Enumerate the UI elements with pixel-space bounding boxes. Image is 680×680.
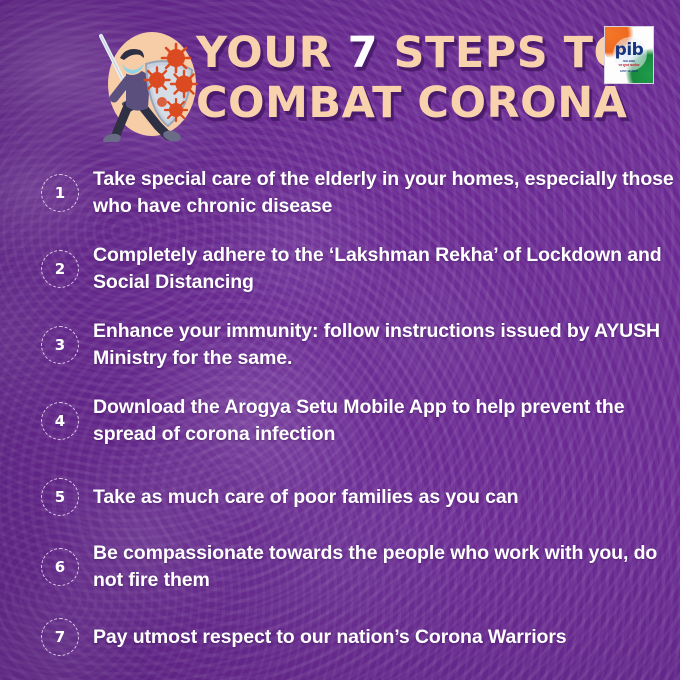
header: YOUR 7 STEPS TO COMBAT CORONA pib भारत स… <box>0 0 680 152</box>
step-number-badge: 7 <box>41 618 79 656</box>
pib-subtitle-3: GOVT. OF INDIA <box>605 70 653 73</box>
title-line-2: COMBAT CORONA <box>196 78 586 128</box>
step-item-5: 5Take as much care of poor families as y… <box>0 477 680 517</box>
step-item-3: 3Enhance your immunity: follow instructi… <box>0 312 680 378</box>
pib-subtitle-2: पत्र सूचना कार्यालय <box>605 64 653 67</box>
pib-wordmark: pib <box>605 42 653 59</box>
step-text: Pay utmost respect to our nation’s Coron… <box>93 624 567 651</box>
step-number-badge: 5 <box>41 478 79 516</box>
step-number-badge: 4 <box>41 402 79 440</box>
step-text: Completely adhere to the ‘Lakshman Rekha… <box>93 242 680 296</box>
pib-logo: pib भारत सरकार पत्र सूचना कार्यालय GOVT.… <box>604 26 654 84</box>
step-item-7: 7Pay utmost respect to our nation’s Coro… <box>0 617 680 657</box>
title-block: YOUR 7 STEPS TO COMBAT CORONA <box>196 28 586 128</box>
title-prefix: YOUR <box>196 28 348 78</box>
step-item-6: 6Be compassionate towards the people who… <box>0 534 680 600</box>
warrior-illustration <box>84 22 206 142</box>
step-item-2: 2Completely adhere to the ‘Lakshman Rekh… <box>0 236 680 302</box>
step-text: Take special care of the elderly in your… <box>93 166 680 220</box>
title-line-1: YOUR 7 STEPS TO <box>196 28 586 78</box>
title-suffix: STEPS TO <box>378 28 631 78</box>
poster-root: YOUR 7 STEPS TO COMBAT CORONA pib भारत स… <box>0 0 680 680</box>
step-number-badge: 1 <box>41 174 79 212</box>
title-step-count: 7 <box>348 28 378 78</box>
step-number-badge: 3 <box>41 326 79 364</box>
step-item-1: 1Take special care of the elderly in you… <box>0 160 680 226</box>
step-item-4: 4Download the Arogya Setu Mobile App to … <box>0 388 680 454</box>
step-text: Enhance your immunity: follow instructio… <box>93 318 680 372</box>
step-number-badge: 6 <box>41 548 79 586</box>
step-text: Download the Arogya Setu Mobile App to h… <box>93 394 680 448</box>
step-text: Take as much care of poor families as yo… <box>93 484 518 511</box>
step-text: Be compassionate towards the people who … <box>93 540 680 594</box>
step-number-badge: 2 <box>41 250 79 288</box>
